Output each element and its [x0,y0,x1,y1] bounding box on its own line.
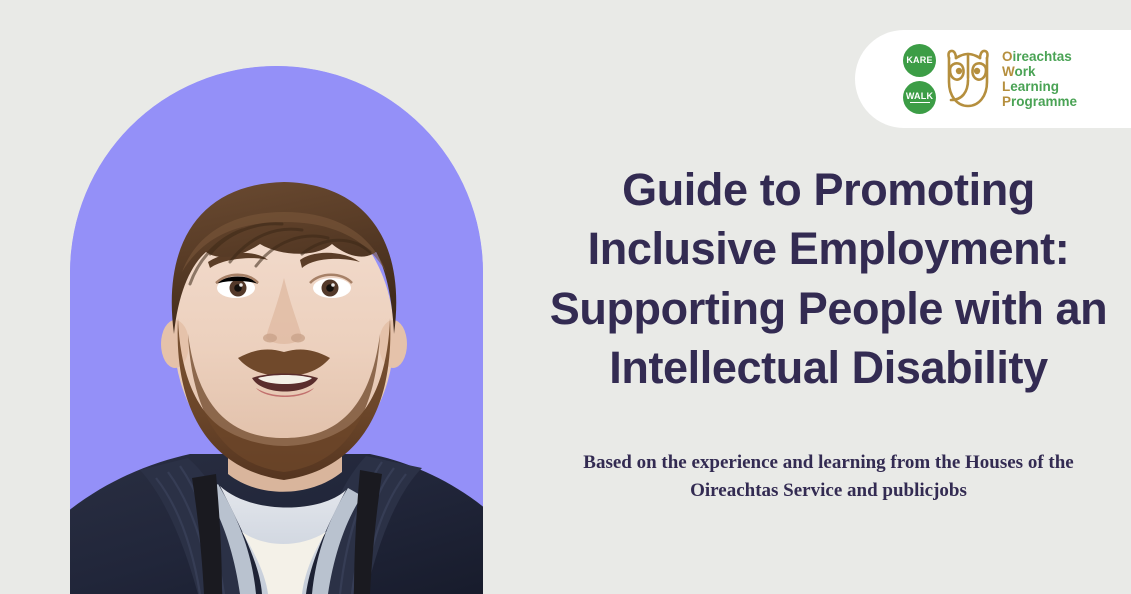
portrait-photo [70,66,483,594]
kare-badge: KARE [903,44,936,77]
owl-cap-o: O [1002,49,1013,64]
owl-wordmark: Oireachtas Work Learning Programme [1002,49,1077,109]
walk-badge: WALK [903,81,936,114]
owl-line-work: Work [1002,64,1077,79]
cover-page: KARE WALK Oireachtas Work [0,0,1131,594]
portrait-arch [70,66,483,594]
headline-block: Guide to Promoting Inclusive Employment:… [540,160,1131,506]
owl-rest-oireachtas: ireachtas [1013,49,1072,64]
kare-badge-label: KARE [906,56,932,65]
owl-cap-p: P [1002,94,1011,109]
walk-badge-label: WALK [906,92,933,101]
owl-cap-l: L [1002,79,1010,94]
owl-line-oireachtas: Oireachtas [1002,49,1077,64]
owl-rest-learning: earning [1010,79,1059,94]
owl-icon [943,48,993,110]
owl-logo-panel: KARE WALK Oireachtas Work [855,30,1131,128]
owl-rest-programme: rogramme [1011,94,1077,109]
page-title: Guide to Promoting Inclusive Employment:… [540,160,1131,398]
owl-line-programme: Programme [1002,94,1077,109]
owl-rest-work: ork [1015,64,1036,79]
partner-badges: KARE WALK [903,44,936,114]
owl-cap-w: W [1002,64,1015,79]
owl-line-learning: Learning [1002,79,1077,94]
page-subtitle: Based on the experience and learning fro… [540,449,1131,507]
walk-badge-underline [910,102,930,104]
